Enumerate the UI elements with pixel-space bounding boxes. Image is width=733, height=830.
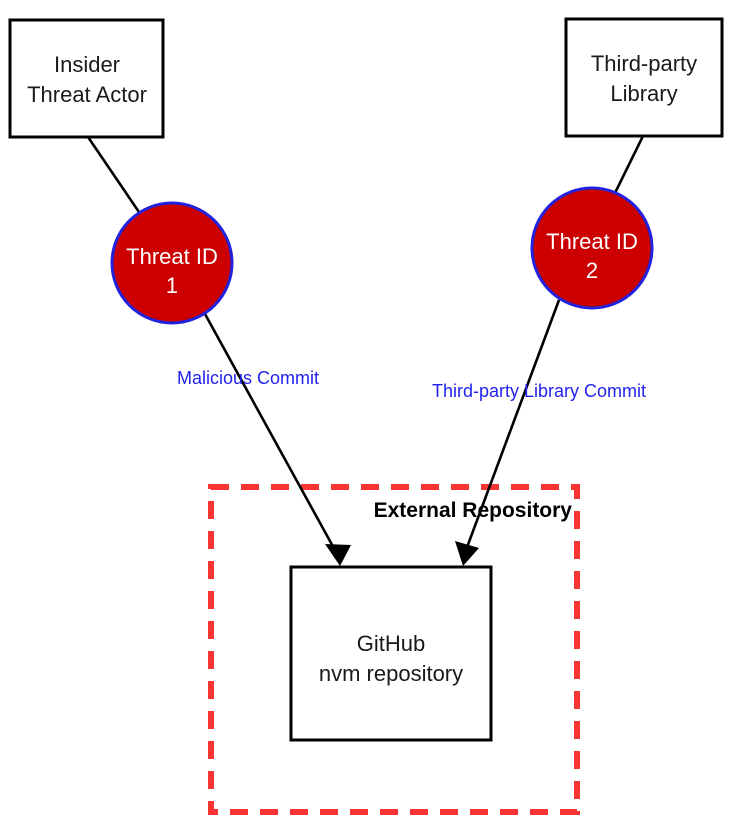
edge-library-to-threat2: [615, 136, 643, 193]
node-insider-threat-actor[interactable]: [10, 20, 163, 137]
node-github-repository-label-line2: nvm repository: [319, 661, 463, 686]
node-insider-threat-actor-label-line2: Threat Actor: [27, 82, 147, 107]
node-threat-id-1-label-line1: Threat ID: [126, 244, 218, 269]
edge-threat1-to-github: [205, 314, 336, 552]
external-repository-group-label: External Repository: [374, 499, 573, 522]
edge-insider-to-threat1: [88, 137, 141, 215]
edge-label-third-party-library-commit: Third-party Library Commit: [432, 381, 646, 401]
node-github-repository-label-line1: GitHub: [357, 631, 425, 656]
node-third-party-library-label-line1: Third-party: [591, 51, 697, 76]
threat-diagram: Insider Threat Actor Third-party Library…: [0, 0, 733, 830]
diagram-canvas: Insider Threat Actor Third-party Library…: [0, 0, 733, 830]
node-third-party-library-label-line2: Library: [610, 81, 677, 106]
arrowhead-threat2-to-github: [455, 541, 479, 566]
node-third-party-library[interactable]: [566, 19, 722, 136]
arrowhead-threat1-to-github: [325, 544, 351, 566]
node-threat-id-2-label-line1: Threat ID: [546, 229, 638, 254]
edge-label-malicious-commit: Malicious Commit: [177, 368, 319, 388]
node-threat-id-1-label-line2: 1: [166, 273, 178, 298]
node-threat-id-2-label-line2: 2: [586, 258, 598, 283]
node-insider-threat-actor-label-line1: Insider: [54, 52, 120, 77]
